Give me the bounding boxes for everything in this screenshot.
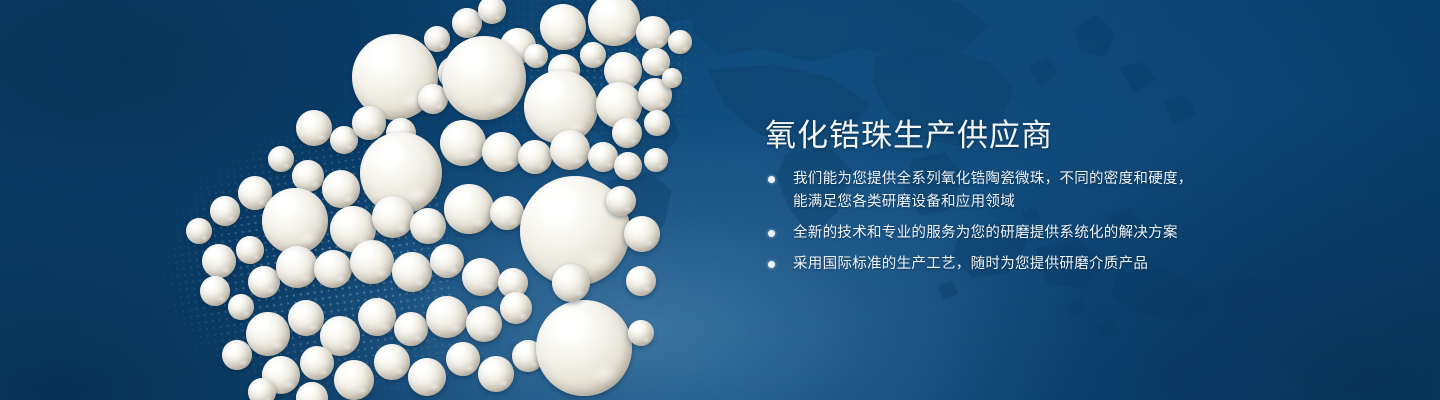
hero-banner: 氧化锆珠生产供应商 我们能为您提供全系列氧化锆陶瓷微珠，不同的密度和硬度， 能满… [0,0,1440,400]
bullet-dot-icon [768,261,775,268]
list-item: 我们能为您提供全系列氧化锆陶瓷微珠，不同的密度和硬度， 能满足您各类研磨设备和应… [765,168,1193,214]
feature-list: 我们能为您提供全系列氧化锆陶瓷微珠，不同的密度和硬度， 能满足您各类研磨设备和应… [765,168,1193,276]
page-title: 氧化锆珠生产供应商 [765,110,1053,155]
list-item-line: 能满足您各类研磨设备和应用领域 [793,191,1193,214]
list-item-line: 全新的技术和专业的服务为您的研磨提供系统化的解决方案 [793,222,1193,245]
list-item-line: 采用国际标准的生产工艺，随时为您提供研磨介质产品 [793,253,1193,276]
bullet-dot-icon [768,230,775,237]
banner-text-block: 氧化锆珠生产供应商 我们能为您提供全系列氧化锆陶瓷微珠，不同的密度和硬度， 能满… [765,0,1365,400]
list-item: 采用国际标准的生产工艺，随时为您提供研磨介质产品 [765,253,1193,276]
list-item: 全新的技术和专业的服务为您的研磨提供系统化的解决方案 [765,222,1193,245]
bullet-dot-icon [768,176,775,183]
list-item-line: 我们能为您提供全系列氧化锆陶瓷微珠，不同的密度和硬度， [793,168,1193,191]
